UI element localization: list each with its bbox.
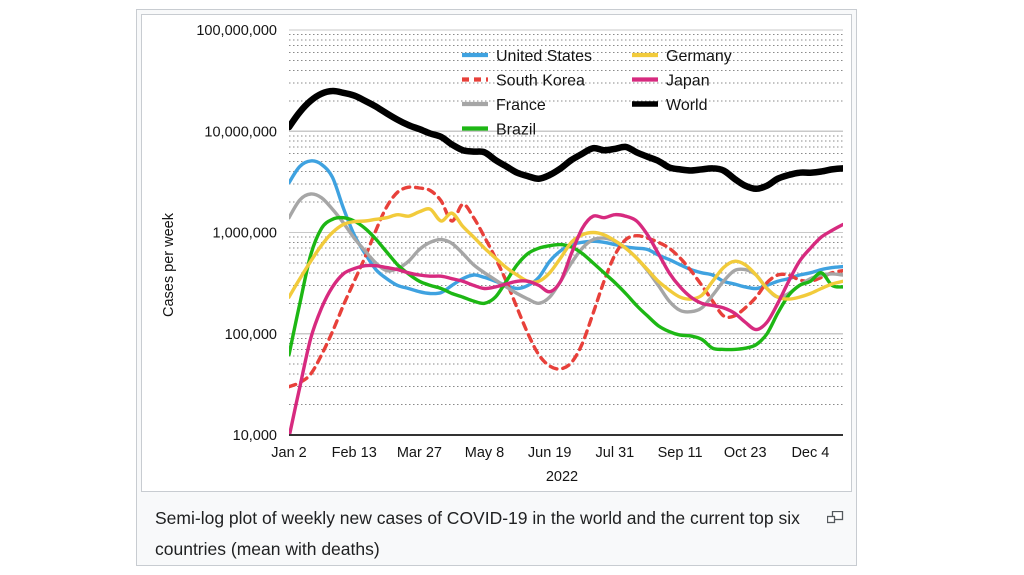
x-tick-label: Feb 13 [332, 445, 377, 461]
y-axis-title: Cases per week [161, 212, 177, 317]
x-tick-label: Jun 19 [528, 445, 572, 461]
x-tick-label: Dec 4 [791, 445, 829, 461]
y-tick-label: 100,000,000 [196, 23, 277, 39]
x-tick-label: Jan 2 [271, 445, 306, 461]
enlarge-icon[interactable] [827, 511, 844, 526]
legend-label-france: France [496, 97, 546, 114]
chart-legend: United StatesSouth KoreaFranceBrazilGerm… [462, 48, 732, 139]
legend-label-united-states: United States [496, 48, 592, 65]
x-tick-label: May 8 [465, 445, 505, 461]
covid-weekly-cases-chart: 10,000100,0001,000,00010,000,000100,000,… [142, 15, 851, 491]
x-tick-label: Jul 31 [596, 445, 635, 461]
y-tick-label: 10,000,000 [204, 124, 277, 140]
x-tick-label: Oct 23 [724, 445, 767, 461]
chart-image-box[interactable]: 10,000100,0001,000,00010,000,000100,000,… [141, 14, 852, 492]
x-axis-title: 2022 [546, 469, 578, 485]
legend-label-south-korea: South Korea [496, 73, 585, 90]
y-tick-label: 100,000 [225, 327, 277, 343]
caption-text: Semi-log plot of weekly new cases of COV… [155, 508, 800, 559]
figure-thumbnail-container: 10,000100,0001,000,00010,000,000100,000,… [136, 9, 857, 566]
legend-label-germany: Germany [666, 48, 732, 65]
figure-caption: Semi-log plot of weekly new cases of COV… [141, 497, 852, 561]
legend-label-world: World [666, 97, 708, 114]
y-tick-label: 1,000,000 [212, 226, 277, 242]
legend-label-japan: Japan [666, 73, 710, 90]
x-axis-tick-labels: Jan 2Feb 13Mar 27May 8Jun 19Jul 31Sep 11… [271, 445, 829, 461]
series-line-world [289, 91, 843, 189]
y-tick-label: 10,000 [233, 428, 277, 444]
x-tick-label: Sep 11 [658, 445, 703, 461]
legend-label-brazil: Brazil [496, 122, 536, 139]
y-axis-tick-labels: 10,000100,0001,000,00010,000,000100,000,… [196, 23, 277, 444]
data-series-group [289, 91, 843, 437]
x-tick-label: Mar 27 [397, 445, 442, 461]
